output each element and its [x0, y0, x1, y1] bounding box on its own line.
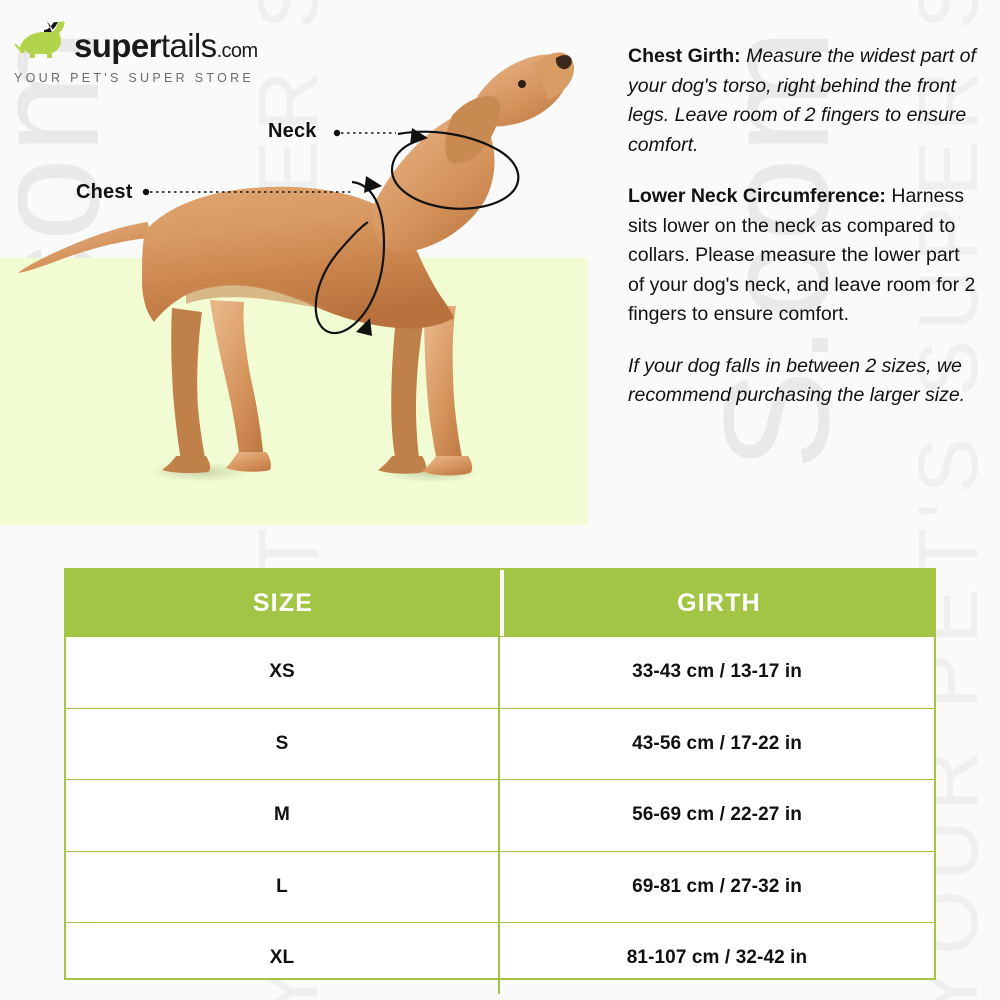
dog-illustration [0, 0, 620, 540]
cell-girth: 81-107 cm / 32-42 in [500, 923, 934, 994]
dog-front-leg-far [391, 318, 424, 464]
dog-eye [518, 80, 526, 88]
cell-size: XL [66, 923, 500, 994]
cell-girth: 69-81 cm / 27-32 in [500, 852, 934, 923]
dog-front-paw-far [378, 456, 426, 474]
sizing-note: If your dog falls in between 2 sizes, we… [628, 352, 976, 411]
instructions-panel: Chest Girth: Measure the widest part of … [628, 42, 976, 411]
table-row: XL 81-107 cm / 32-42 in [66, 922, 934, 994]
dog-rear-paw-near [226, 452, 271, 472]
table-row: M 56-69 cm / 22-27 in [66, 779, 934, 851]
neck-leader-line [334, 130, 396, 136]
table-row: L 69-81 cm / 27-32 in [66, 851, 934, 923]
cell-size: L [66, 852, 500, 923]
table-row: XS 33-43 cm / 13-17 in [66, 636, 934, 708]
table-row: S 43-56 cm / 17-22 in [66, 708, 934, 780]
cell-girth: 43-56 cm / 17-22 in [500, 709, 934, 780]
cell-size: XS [66, 637, 500, 708]
column-header-size: SIZE [66, 570, 500, 636]
neck-circumference-heading: Lower Neck Circumference: [628, 185, 886, 207]
column-header-girth: GIRTH [504, 570, 934, 636]
dog-tail [18, 222, 150, 273]
cell-girth: 56-69 cm / 22-27 in [500, 780, 934, 851]
label-chest: Chest [76, 181, 133, 204]
chest-girth-paragraph: Chest Girth: Measure the widest part of … [628, 42, 976, 160]
size-chart-page: S.com S.com YOUR PET'S SUPER STORE YOUR … [0, 0, 1000, 1000]
chest-loop-arrowhead [364, 176, 382, 193]
dog-front-paw-near [422, 456, 472, 475]
label-neck: Neck [268, 120, 317, 143]
cell-size: M [66, 780, 500, 851]
cell-girth: 33-43 cm / 13-17 in [500, 637, 934, 708]
size-table: SIZE GIRTH XS 33-43 cm / 13-17 in S 43-5… [64, 568, 936, 980]
cell-size: S [66, 709, 500, 780]
dog-rear-leg-near [210, 300, 264, 460]
table-header-row: SIZE GIRTH [66, 570, 934, 636]
dog-rear-paw-far [162, 456, 210, 473]
neck-circumference-paragraph: Lower Neck Circumference: Harness sits l… [628, 182, 976, 330]
dog-rear-leg-far [171, 308, 206, 464]
dog-diagram [0, 0, 620, 540]
dog-front-leg-near [424, 306, 464, 466]
chest-girth-heading: Chest Girth: [628, 45, 741, 67]
